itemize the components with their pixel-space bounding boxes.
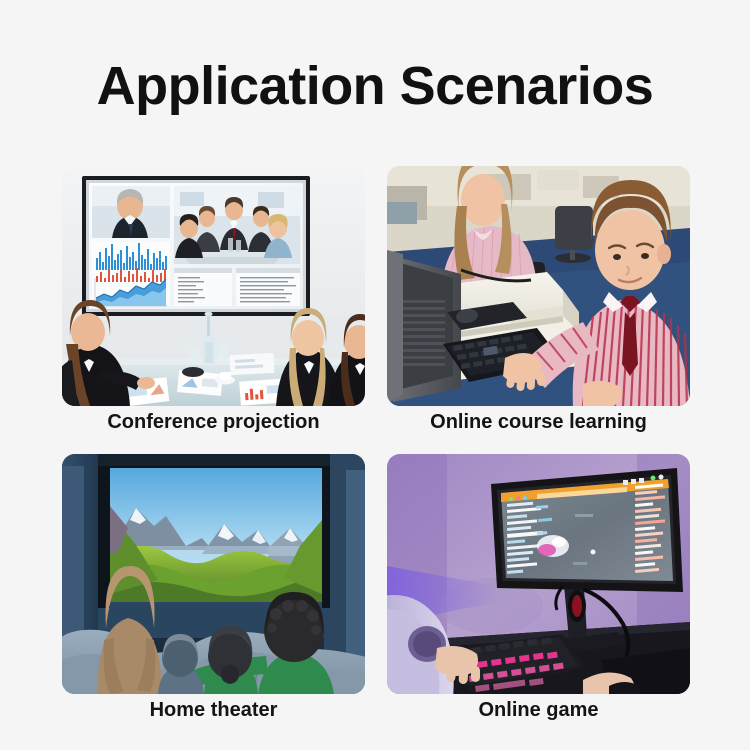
application-scenarios-page: Application Scenarios [0,0,750,750]
scenario-card-online-game[interactable]: Online game [387,454,690,726]
scenario-card-conference-projection[interactable]: Conference projection [62,166,365,438]
scenario-image-conference-projection [62,166,365,406]
page-title: Application Scenarios [0,56,750,116]
scenario-card-online-course-learning[interactable]: Online course learning [387,166,690,438]
scenario-card-home-theater[interactable]: Home theater [62,454,365,726]
scenario-image-online-game [387,454,690,694]
scenario-caption-home-theater: Home theater [62,696,365,724]
scenario-grid: Conference projection [62,166,690,726]
scenario-caption-conference-projection: Conference projection [62,408,365,436]
scenario-image-home-theater [62,454,365,694]
scenario-image-online-course-learning [387,166,690,406]
scenario-caption-online-game: Online game [387,696,690,724]
scenario-caption-online-course-learning: Online course learning [387,408,690,436]
